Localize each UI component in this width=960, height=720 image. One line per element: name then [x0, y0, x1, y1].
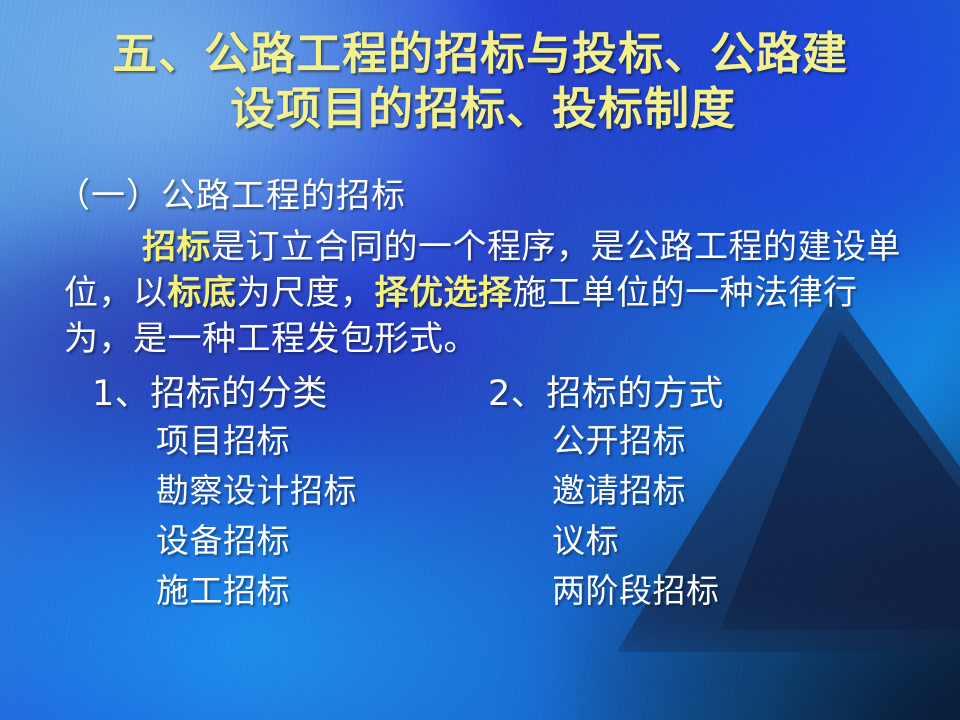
- list-item: 项目招标: [92, 416, 357, 466]
- list-heading-categories: 1、招标的分类: [92, 372, 357, 416]
- slide-title-line-2: 设项目的招标、投标制度: [0, 81, 960, 136]
- slide-title: 五、公路工程的招标与投标、公路建 设项目的招标、投标制度: [0, 26, 960, 136]
- paragraph-run: 为尺度，: [237, 273, 375, 313]
- list-column-methods: 2、招标的方式 公开招标邀请招标议标两阶段招标: [488, 372, 724, 616]
- paragraph-text: 招标是订立合同的一个程序，是公路工程的建设单位，以标底为尺度，择优选择施工单位的…: [64, 227, 901, 359]
- list-column-categories: 1、招标的分类 项目招标勘察设计招标设备招标施工招标: [92, 372, 357, 616]
- list-heading-methods: 2、招标的方式: [488, 372, 724, 416]
- list-items-categories: 项目招标勘察设计招标设备招标施工招标: [92, 416, 357, 616]
- presentation-slide: 五、公路工程的招标与投标、公路建 设项目的招标、投标制度 （一）公路工程的招标 …: [0, 0, 960, 720]
- list-item: 施工招标: [92, 566, 357, 616]
- slide-title-line-1: 五、公路工程的招标与投标、公路建: [0, 26, 960, 81]
- list-item: 邀请招标: [488, 466, 724, 516]
- paragraph-highlight-term: 招标: [142, 227, 211, 267]
- list-item: 议标: [488, 516, 724, 566]
- list-item: 设备招标: [92, 516, 357, 566]
- body-paragraph: 招标是订立合同的一个程序，是公路工程的建设单位，以标底为尺度，择优选择施工单位的…: [64, 224, 924, 362]
- paragraph-highlight-term: 标底: [168, 273, 237, 313]
- paragraph-highlight-term: 择优选择: [375, 273, 513, 313]
- section-heading: （一）公路工程的招标: [56, 176, 406, 216]
- list-item: 两阶段招标: [488, 566, 724, 616]
- list-item: 公开招标: [488, 416, 724, 466]
- slide-content: 五、公路工程的招标与投标、公路建 设项目的招标、投标制度 （一）公路工程的招标 …: [0, 0, 960, 720]
- list-items-methods: 公开招标邀请招标议标两阶段招标: [488, 416, 724, 616]
- list-item: 勘察设计招标: [92, 466, 357, 516]
